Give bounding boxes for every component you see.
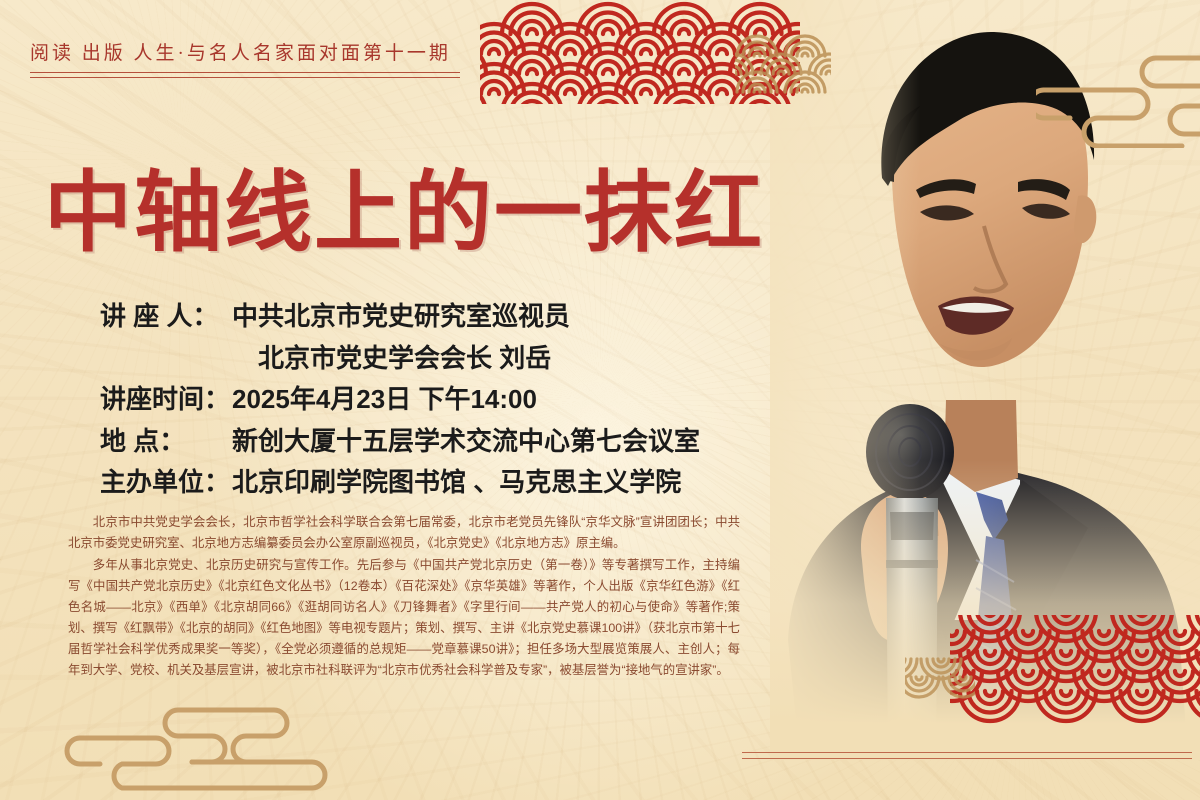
detail-label: 主办单位： xyxy=(100,466,232,499)
biography-paragraph-1: 北京市中共党史学会会长，北京市哲学社会科学联合会第七届常委，北京市老党员先锋队“… xyxy=(68,512,740,554)
event-details: 讲 座 人： 中共北京市党史研究室巡视员 讲 座 人： 北京市党史学会会长 刘岳… xyxy=(100,300,740,508)
double-rule-bottom-right xyxy=(742,752,1192,759)
detail-value: 2025年4月23日 下午14:00 xyxy=(232,383,537,416)
series-title-text: 阅读 出版 人生·与名人名家面对面第十一期 xyxy=(30,38,460,65)
red-wave-pattern-top xyxy=(480,0,800,104)
gold-cloud-bottom-left xyxy=(60,700,340,796)
photo-left-fade xyxy=(770,0,920,760)
header-double-rule xyxy=(30,72,460,78)
speaker-biography: 北京市中共党史学会会长，北京市哲学社会科学联合会第七届常委，北京市老党员先锋队“… xyxy=(68,512,740,682)
red-wave-pattern-bottom xyxy=(950,615,1200,733)
gold-cloud-top-right xyxy=(1036,28,1200,148)
poster-canvas: 阅读 出版 人生·与名人名家面对面第十一期 中轴线上的一抹红 讲 座 人： 中共… xyxy=(0,0,1200,800)
detail-row-time: 讲座时间： 2025年4月23日 下午14:00 xyxy=(100,383,740,416)
detail-label: 讲 座 人： xyxy=(100,300,232,333)
biography-paragraph-2: 多年从事北京党史、北京历史研究与宣传工作。先后参与《中国共产党北京历史（第一卷）… xyxy=(68,555,740,681)
detail-label: 地 点： xyxy=(100,425,232,458)
detail-label: 讲座时间： xyxy=(100,383,232,416)
speaker-photo xyxy=(770,0,1200,760)
detail-value: 中共北京市党史研究室巡视员 xyxy=(232,300,570,333)
detail-value: 新创大厦十五层学术交流中心第七会议室 xyxy=(232,425,700,458)
series-header: 阅读 出版 人生·与名人名家面对面第十一期 xyxy=(30,38,460,78)
detail-row-location: 地 点： 新创大厦十五层学术交流中心第七会议室 xyxy=(100,425,740,458)
gold-wave-pattern-top xyxy=(735,30,831,100)
gold-wave-pattern-bottom xyxy=(905,655,975,703)
speaker-portrait-illustration xyxy=(770,0,1200,760)
page-title: 中轴线上的一抹红 xyxy=(44,168,764,258)
detail-row-speaker: 讲 座 人： 中共北京市党史研究室巡视员 xyxy=(100,300,740,333)
detail-value: 北京印刷学院图书馆 、马克思主义学院 xyxy=(232,466,681,499)
detail-value: 北京市党史学会会长 刘岳 xyxy=(232,342,551,375)
detail-row-speaker-cont: 讲 座 人： 北京市党史学会会长 刘岳 xyxy=(100,342,740,375)
photo-bottom-fade xyxy=(770,460,1200,760)
detail-row-organizer: 主办单位： 北京印刷学院图书馆 、马克思主义学院 xyxy=(100,466,740,499)
